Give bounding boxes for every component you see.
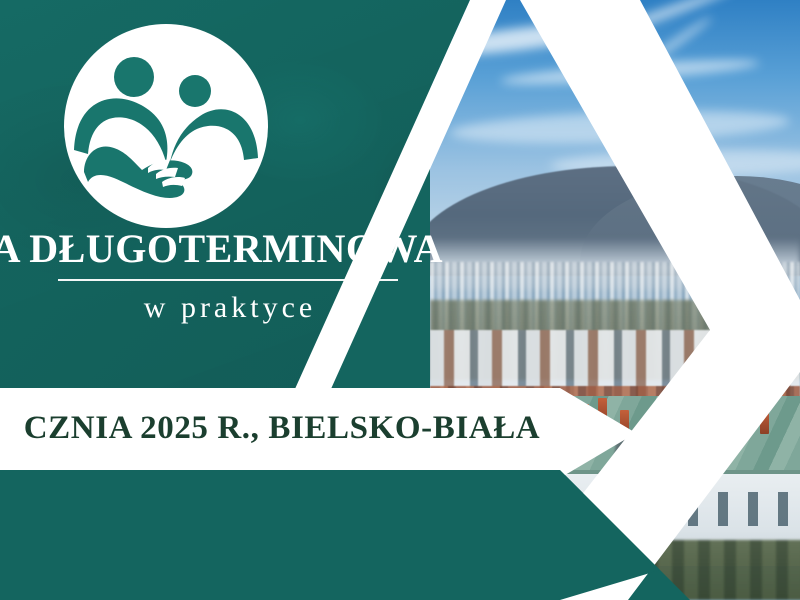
page-title: KA DŁUGOTERMINOWA (0, 228, 430, 270)
title-divider (58, 279, 398, 281)
page-subtitle: w praktyce (30, 291, 430, 325)
event-poster: KA DŁUGOTERMINOWA w praktyce CZNIA 2025 … (0, 0, 800, 600)
caring-hands-heart-logo (62, 22, 270, 230)
event-date-location: CZNIA 2025 R., BIELSKO-BIAŁA (0, 410, 582, 447)
title-block: KA DŁUGOTERMINOWA w praktyce (0, 228, 430, 325)
